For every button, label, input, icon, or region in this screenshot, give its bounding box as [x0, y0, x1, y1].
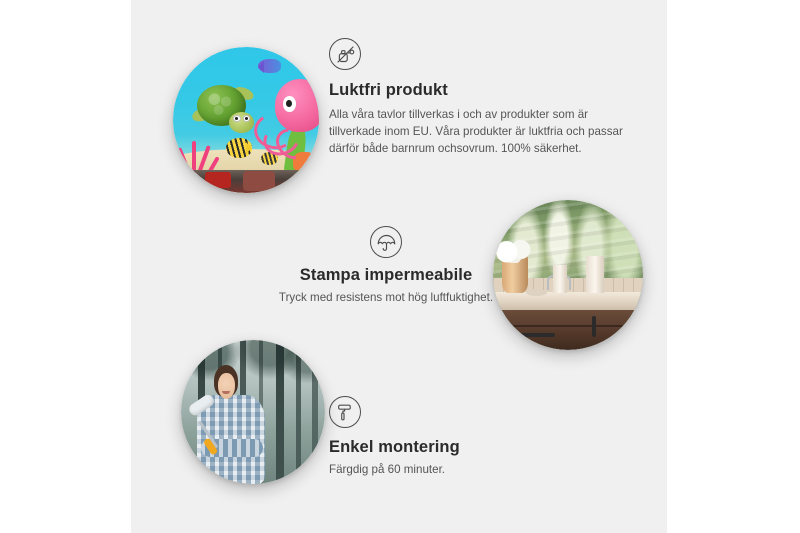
feature-title: Enkel montering [329, 438, 629, 457]
product-photo-forest-mural [181, 340, 325, 484]
feature-odourless: Luktfri produkt Alla våra tavlor tillver… [329, 38, 629, 157]
infographic-stage: Luktfri produkt Alla våra tavlor tillver… [0, 0, 800, 533]
candle-large [586, 256, 604, 294]
sea-turtle [192, 85, 259, 138]
feature-easy-assembly: Enkel montering Färgdig på 60 minuter. [329, 396, 629, 478]
woman-with-paint-roller [193, 363, 274, 484]
blue-fish [258, 59, 281, 74]
yellow-fish [226, 138, 252, 158]
room-foreground-band [173, 170, 319, 193]
octopus [258, 79, 319, 152]
wooden-vanity [493, 310, 643, 351]
content-panel: Luktfri produkt Alla våra tavlor tillver… [131, 0, 667, 533]
feature-body: Alla våra tavlor tillverkas i och av pro… [329, 106, 629, 157]
no-fragrance-icon [329, 38, 361, 70]
feature-body: Färgdig på 60 minuter. [329, 461, 629, 478]
feature-title: Stampa impermeabile [216, 266, 556, 285]
feature-body: Tryck med resistens mot hög luftfuktighe… [216, 289, 556, 306]
product-photo-underwater [173, 47, 319, 193]
umbrella-icon [370, 226, 402, 258]
feature-waterproof: Stampa impermeabile Tryck med resistens … [216, 226, 556, 306]
feature-title: Luktfri produkt [329, 81, 629, 100]
paint-roller-icon [329, 396, 361, 428]
